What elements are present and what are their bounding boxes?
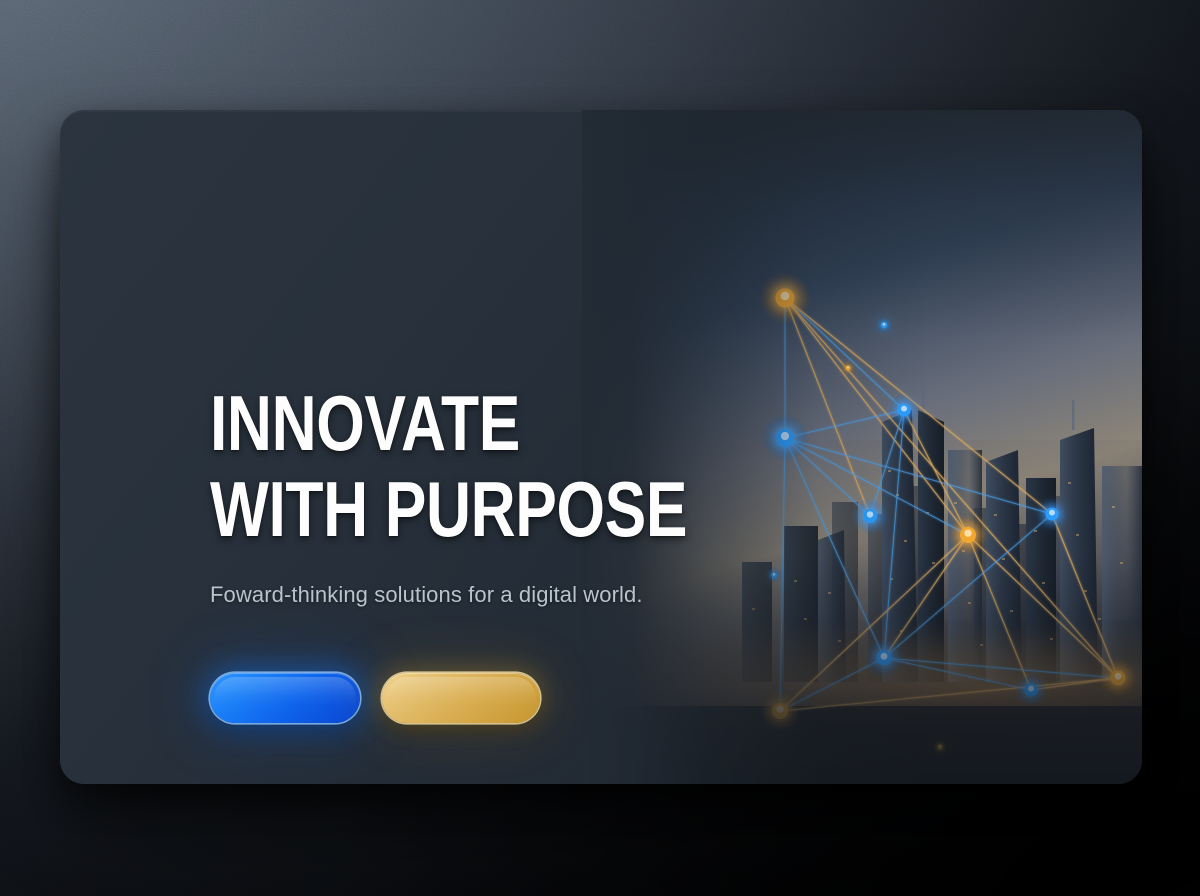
- hero-copy-block: INNOVATE WITH PURPOSE Foward-thinking so…: [210, 386, 830, 608]
- network-node-highlight: [901, 406, 907, 412]
- network-node-highlight: [964, 530, 971, 537]
- network-link: [884, 410, 904, 658]
- network-link: [904, 410, 968, 535]
- network-node-highlight: [776, 706, 783, 713]
- network-link: [780, 678, 1118, 711]
- page-backdrop: INNOVATE WITH PURPOSE Foward-thinking so…: [0, 0, 1200, 896]
- network-node-highlight: [867, 511, 873, 517]
- page-title: INNOVATE WITH PURPOSE: [210, 386, 830, 546]
- network-link: [884, 658, 1118, 678]
- network-node-highlight: [781, 292, 790, 301]
- network-node-highlight: [881, 653, 888, 660]
- headline-line-2: WITH PURPOSE: [210, 472, 706, 546]
- hero-actions: [210, 673, 540, 723]
- network-link: [884, 658, 1031, 690]
- secondary-cta-button[interactable]: [382, 673, 540, 723]
- network-node-highlight: [1049, 510, 1055, 516]
- headline-line-1: INNOVATE: [210, 386, 706, 460]
- network-node-highlight: [883, 323, 886, 326]
- network-link: [785, 298, 1118, 678]
- hero-card: INNOVATE WITH PURPOSE Foward-thinking so…: [60, 110, 1142, 784]
- network-link: [968, 535, 1031, 690]
- network-node-highlight: [847, 366, 849, 368]
- network-node-highlight: [1028, 686, 1034, 692]
- network-node-highlight: [1115, 673, 1122, 680]
- network-link: [968, 535, 1118, 678]
- network-link: [1052, 514, 1118, 678]
- primary-cta-button[interactable]: [210, 673, 360, 723]
- network-node-highlight: [939, 745, 941, 747]
- hero-subtitle: Foward-thinking solutions for a digital …: [210, 582, 830, 608]
